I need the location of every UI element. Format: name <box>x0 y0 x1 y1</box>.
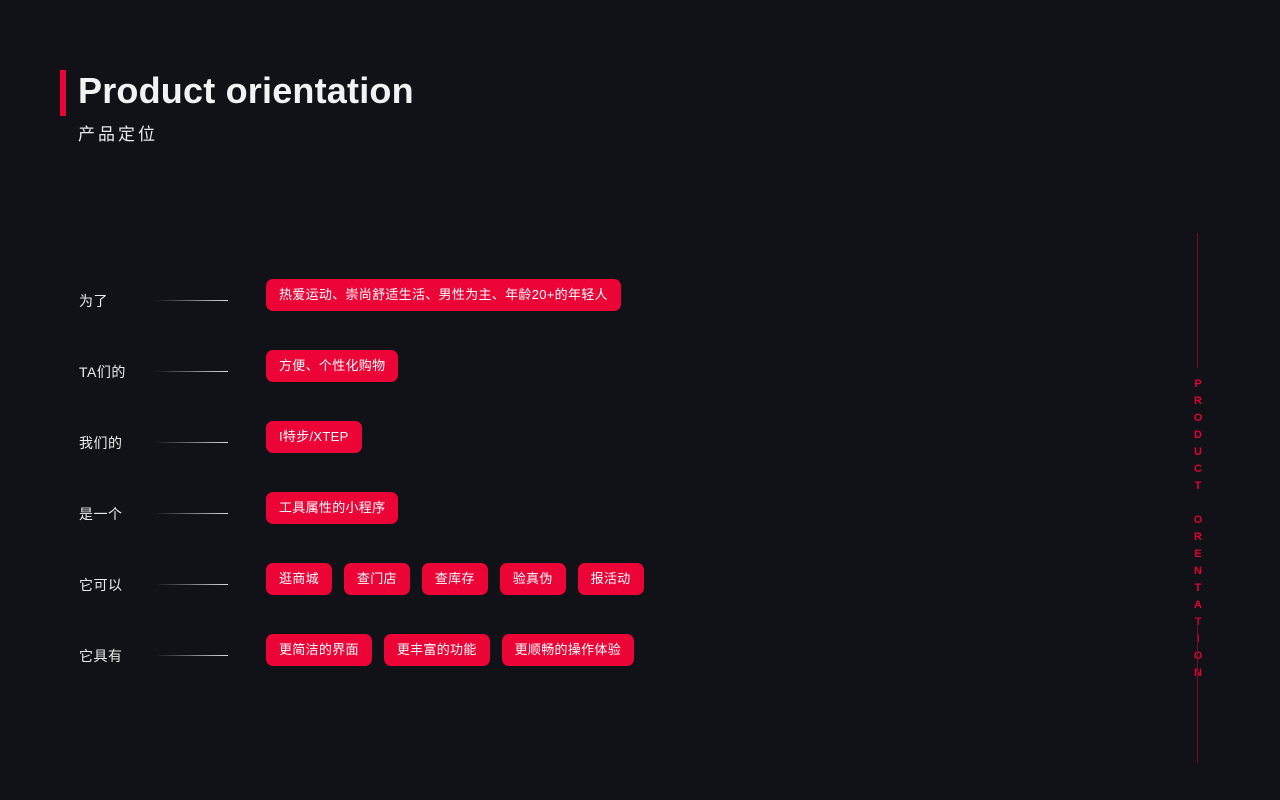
pill-tag[interactable]: 查门店 <box>344 563 410 595</box>
side-rail: PRODUCT ORENTATION <box>1188 233 1208 763</box>
pill-tag[interactable]: 验真伪 <box>500 563 566 595</box>
pill-tag[interactable]: 逛商城 <box>266 563 332 595</box>
page-subtitle: 产品定位 <box>78 120 414 145</box>
content-row: 我们的I特步/XTEP <box>0 432 1280 503</box>
rail-vertical-label: PRODUCT ORENTATION <box>1192 378 1204 684</box>
row-label: 为了 <box>79 290 151 312</box>
content-row: TA们的方便、个性化购物 <box>0 361 1280 432</box>
row-label: TA们的 <box>79 361 151 383</box>
pill-tag[interactable]: 工具属性的小程序 <box>266 492 398 524</box>
header-accent-bar <box>60 70 66 116</box>
row-connector-line <box>158 655 228 656</box>
pill-tag[interactable]: 查库存 <box>422 563 488 595</box>
page-title: Product orientation <box>78 68 414 114</box>
pill-tag[interactable]: 热爱运动、崇尚舒适生活、男性为主、年龄20+的年轻人 <box>266 279 621 311</box>
row-pill-group: I特步/XTEP <box>266 421 362 453</box>
pill-tag[interactable]: 更顺畅的操作体验 <box>502 634 634 666</box>
content-row: 为了热爱运动、崇尚舒适生活、男性为主、年龄20+的年轻人 <box>0 290 1280 361</box>
row-connector-line <box>158 584 228 585</box>
pill-tag[interactable]: 更丰富的功能 <box>384 634 490 666</box>
row-connector-line <box>158 300 228 301</box>
row-label: 它可以 <box>79 574 151 596</box>
content-row: 它可以逛商城查门店查库存验真伪报活动 <box>0 574 1280 645</box>
row-label: 我们的 <box>79 432 151 454</box>
pill-tag[interactable]: 方便、个性化购物 <box>266 350 398 382</box>
pill-tag[interactable]: 更简洁的界面 <box>266 634 372 666</box>
page-header: Product orientation 产品定位 <box>60 68 414 145</box>
row-connector-line <box>158 371 228 372</box>
rail-line-bottom <box>1197 618 1198 763</box>
row-pill-group: 方便、个性化购物 <box>266 350 398 382</box>
row-label: 是一个 <box>79 503 151 525</box>
rail-line-top <box>1197 233 1198 368</box>
pill-tag[interactable]: I特步/XTEP <box>266 421 362 453</box>
content-rows: 为了热爱运动、崇尚舒适生活、男性为主、年龄20+的年轻人TA们的方便、个性化购物… <box>0 290 1280 716</box>
row-connector-line <box>158 513 228 514</box>
row-connector-line <box>158 442 228 443</box>
row-pill-group: 更简洁的界面更丰富的功能更顺畅的操作体验 <box>266 634 634 666</box>
row-pill-group: 工具属性的小程序 <box>266 492 398 524</box>
row-label: 它具有 <box>79 645 151 667</box>
row-pill-group: 逛商城查门店查库存验真伪报活动 <box>266 563 644 595</box>
pill-tag[interactable]: 报活动 <box>578 563 644 595</box>
content-row: 它具有更简洁的界面更丰富的功能更顺畅的操作体验 <box>0 645 1280 716</box>
row-pill-group: 热爱运动、崇尚舒适生活、男性为主、年龄20+的年轻人 <box>266 279 621 311</box>
